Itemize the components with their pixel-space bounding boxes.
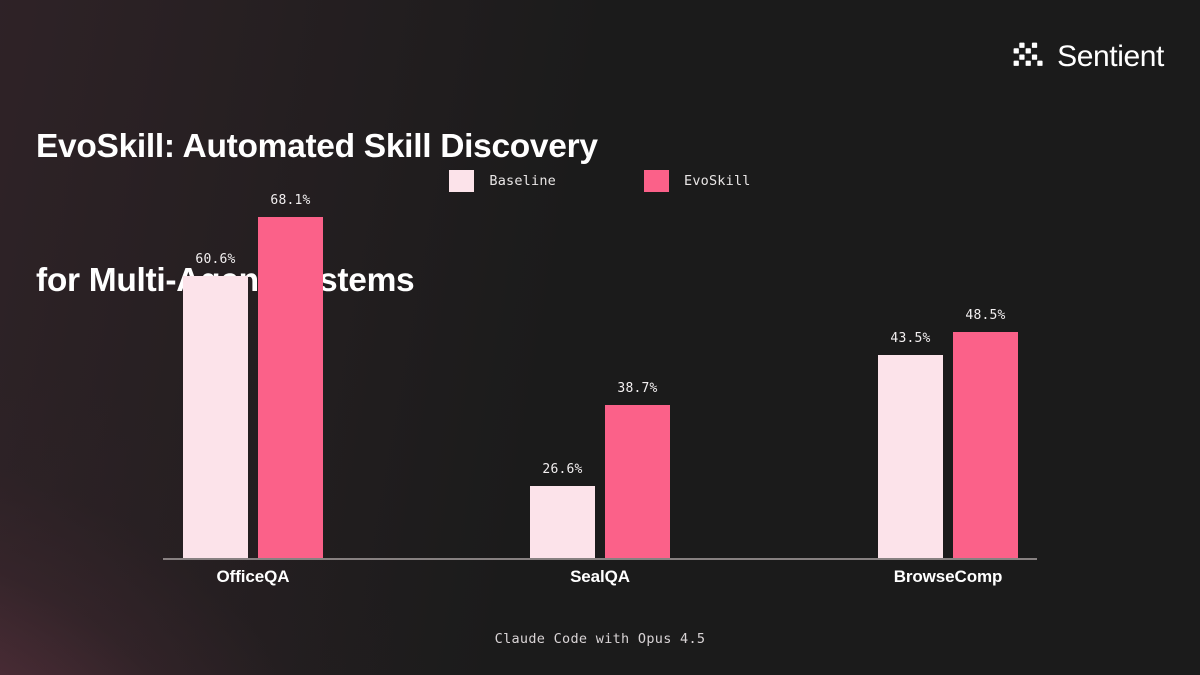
x-axis-label-browsecomp: BrowseComp <box>838 567 1058 587</box>
footer-caption: Claude Code with Opus 4.5 <box>0 631 1200 647</box>
x-axis-label-officeqa: OfficeQA <box>143 567 363 587</box>
bar-value-label: 43.5% <box>890 331 930 346</box>
bar-value-label: 60.6% <box>195 252 235 267</box>
bar-officeqa-evoskill: 68.1% <box>258 217 323 558</box>
bar-officeqa-baseline: 60.6% <box>183 276 248 558</box>
bar-browsecomp-evoskill: 48.5% <box>953 332 1018 558</box>
bar-value-label: 68.1% <box>270 193 310 208</box>
bar-value-label: 26.6% <box>542 462 582 477</box>
x-axis-label-sealqa: SealQA <box>490 567 710 587</box>
x-axis-line <box>163 558 1037 560</box>
bar-chart-plot: 60.6%68.1%OfficeQA26.6%38.7%SealQA43.5%4… <box>0 0 1200 675</box>
bar-value-label: 38.7% <box>617 381 657 396</box>
bar-value-label: 48.5% <box>965 308 1005 323</box>
bar-sealqa-baseline: 26.6% <box>530 486 595 558</box>
slide-canvas: EvoSkill: Automated Skill Discovery for … <box>0 0 1200 675</box>
bar-sealqa-evoskill: 38.7% <box>605 405 670 558</box>
bar-browsecomp-baseline: 43.5% <box>878 355 943 558</box>
